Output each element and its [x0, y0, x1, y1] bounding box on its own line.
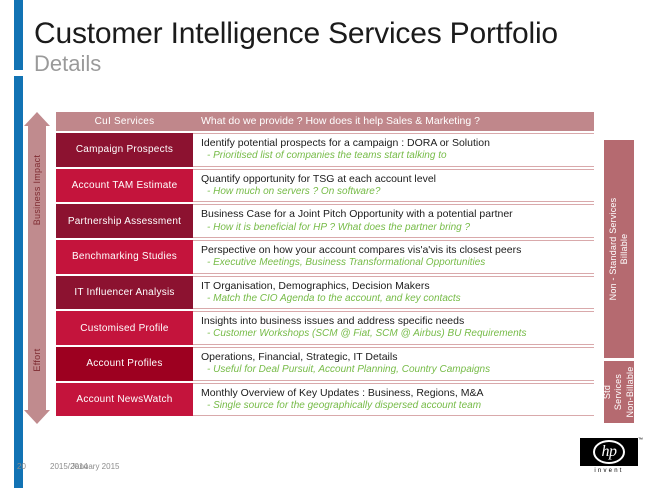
description-benefit: - Match the CIO Agenda to the account, a…: [201, 293, 588, 306]
table-header-row: CuI Services What do we provide ? How do…: [56, 112, 594, 131]
page-title: Customer Intelligence Services Portfolio: [34, 18, 614, 50]
service-name-account-profiles[interactable]: Account Profiles: [56, 347, 193, 381]
description-main: Quantify opportunity for TSG at each acc…: [201, 173, 588, 186]
service-name-it-influencer-analysis[interactable]: IT Influencer Analysis: [56, 276, 193, 310]
service-name-benchmarking-studies[interactable]: Benchmarking Studies: [56, 240, 193, 274]
service-name-account-tam-estimate[interactable]: Account TAM Estimate: [56, 169, 193, 203]
service-category-bars: Non - Standard Services Billable Std Ser…: [604, 140, 634, 426]
category-standard-line3: Non-Billable: [625, 367, 635, 418]
description-cell: Operations, Financial, Strategic, IT Det…: [193, 347, 594, 381]
description-cell: IT Organisation, Demographics, Decision …: [193, 276, 594, 310]
hp-logo: hp ™ invent: [580, 438, 642, 478]
table-row[interactable]: Benchmarking Studies Perspective on how …: [56, 240, 594, 274]
hp-logo-tagline: invent: [580, 468, 638, 474]
footer: 20 2015/2014 January 2015: [14, 462, 414, 476]
description-benefit: - Prioritised list of companies the team…: [201, 150, 588, 163]
page-subtitle: Details: [34, 51, 614, 76]
axis-label-effort: Effort: [32, 348, 42, 371]
table-row[interactable]: Account NewsWatch Monthly Overview of Ke…: [56, 383, 594, 417]
table-row[interactable]: Account Profiles Operations, Financial, …: [56, 347, 594, 381]
description-cell: Monthly Overview of Key Updates : Busine…: [193, 383, 594, 417]
trademark-icon: ™: [638, 437, 643, 443]
service-name-customised-profile[interactable]: Customised Profile: [56, 311, 193, 345]
description-benefit: - Single source for the geographically d…: [201, 400, 588, 413]
category-standard-non-billable: Std Services Non-Billable: [604, 361, 634, 423]
business-impact-effort-axis: Business Impact Effort: [24, 112, 50, 424]
description-cell: Identify potential prospects for a campa…: [193, 133, 594, 167]
category-non-standard-line1: Non - Standard Services: [608, 198, 618, 301]
description-cell: Quantify opportunity for TSG at each acc…: [193, 169, 594, 203]
description-main: Business Case for a Joint Pitch Opportun…: [201, 208, 588, 221]
category-non-standard-line2: Billable: [619, 234, 629, 265]
footer-page-number: 20: [17, 462, 26, 471]
blue-accent-bar-bottom: [14, 76, 23, 488]
service-name-campaign-prospects[interactable]: Campaign Prospects: [56, 133, 193, 167]
arrow-down-icon: [24, 410, 50, 424]
column-header-services: CuI Services: [56, 112, 193, 131]
hp-logo-wordmark: hp: [580, 438, 638, 466]
description-benefit: - Useful for Deal Pursuit, Account Plann…: [201, 364, 588, 377]
description-cell: Perspective on how your account compares…: [193, 240, 594, 274]
axis-label-business-impact: Business Impact: [32, 155, 42, 226]
title-block: Customer Intelligence Services Portfolio…: [34, 18, 614, 77]
description-main: Identify potential prospects for a campa…: [201, 137, 588, 150]
description-main: Operations, Financial, Strategic, IT Det…: [201, 351, 588, 364]
description-benefit: - Executive Meetings, Business Transform…: [201, 257, 588, 270]
table-row[interactable]: Partnership Assessment Business Case for…: [56, 204, 594, 238]
category-standard-line1: Std: [602, 385, 612, 399]
description-benefit: - Customer Workshops (SCM @ Fiat, SCM @ …: [201, 328, 588, 341]
table-row[interactable]: Customised Profile Insights into busines…: [56, 311, 594, 345]
description-main: IT Organisation, Demographics, Decision …: [201, 280, 588, 293]
service-name-partnership-assessment[interactable]: Partnership Assessment: [56, 204, 193, 238]
table-row[interactable]: Account TAM Estimate Quantify opportunit…: [56, 169, 594, 203]
category-non-standard-label: Non - Standard Services Billable: [608, 198, 631, 301]
description-cell: Insights into business issues and addres…: [193, 311, 594, 345]
description-main: Insights into business issues and addres…: [201, 315, 588, 328]
service-name-account-newswatch[interactable]: Account NewsWatch: [56, 383, 193, 417]
blue-accent-bar-top: [14, 0, 23, 70]
arrow-up-icon: [24, 112, 50, 126]
description-main: Monthly Overview of Key Updates : Busine…: [201, 387, 588, 400]
column-header-description: What do we provide ? How does it help Sa…: [201, 115, 588, 128]
hp-logo-box: hp ™: [580, 438, 638, 466]
category-standard-line2: Services: [613, 374, 623, 410]
services-table: CuI Services What do we provide ? How do…: [56, 112, 594, 418]
description-main: Perspective on how your account compares…: [201, 244, 588, 257]
description-benefit: - How much on servers ? On software?: [201, 186, 588, 199]
category-non-standard-billable: Non - Standard Services Billable: [604, 140, 634, 358]
table-row[interactable]: IT Influencer Analysis IT Organisation, …: [56, 276, 594, 310]
category-standard-label: Std Services Non-Billable: [602, 367, 636, 418]
footer-date-secondary: January 2015: [71, 462, 119, 471]
description-cell: Business Case for a Joint Pitch Opportun…: [193, 204, 594, 238]
table-row[interactable]: Campaign Prospects Identify potential pr…: [56, 133, 594, 167]
description-benefit: - How it is beneficial for HP ? What doe…: [201, 222, 588, 235]
